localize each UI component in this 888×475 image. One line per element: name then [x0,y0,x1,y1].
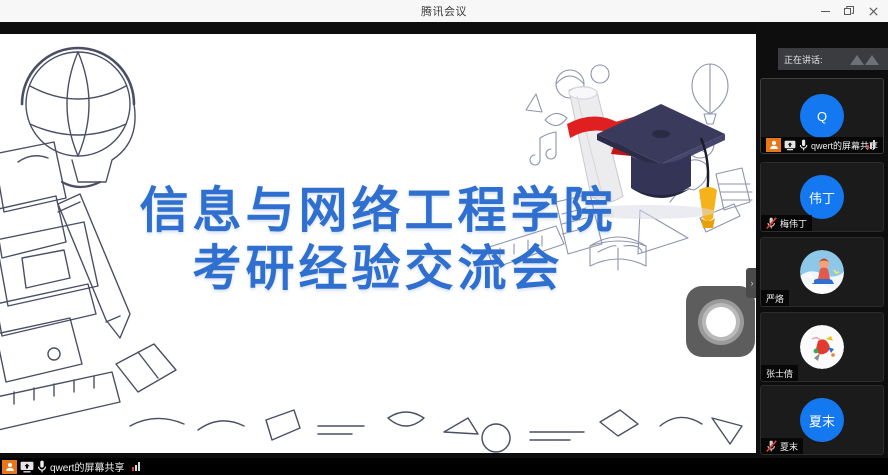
screen-share-icon [784,140,796,151]
chevron-right-icon: › [751,278,754,288]
collapse-rail-tab[interactable]: › [746,268,756,298]
maximize-button[interactable] [838,1,860,21]
participant-tile[interactable]: 夏末 夏末 [760,385,884,455]
ring-outer [698,299,744,345]
participant-nametag: 夏末 [761,438,803,454]
avatar-photo [800,325,844,369]
participant-tile[interactable]: 伟丁 梅伟丁 [760,162,884,232]
audio-wave-icon [848,53,882,66]
host-person-icon [2,460,17,474]
microphone-muted-icon [766,217,777,229]
avatar-photo [800,250,844,294]
close-button[interactable] [862,1,884,21]
participant-name: 梅伟丁 [780,217,807,230]
avatar: Q [800,94,844,138]
shared-screen-stage[interactable]: 信息与网络工程学院 考研经验交流会 › [0,34,756,453]
window-controls [814,0,884,22]
window-titlebar: 腾讯会议 [0,0,888,22]
microphone-icon [799,139,808,151]
slide-title-block: 信息与网络工程学院 考研经验交流会 [0,182,756,298]
avatar: 夏末 [800,398,844,442]
signal-bars-icon [132,462,140,471]
participant-tile[interactable]: 张士倩 [760,312,884,382]
participant-nametag: 梅伟丁 [761,215,812,231]
participant-nametag: qwert的屏幕共享 [761,137,883,153]
slide-title-line-1: 信息与网络工程学院 [0,182,756,240]
microphone-icon[interactable] [37,460,47,473]
signal-bars-icon [867,140,875,149]
maximize-icon [844,6,854,16]
participant-tile[interactable]: 严烙 [760,237,884,307]
avatar-initials: 夏末 [809,411,835,430]
minimize-button[interactable] [814,1,836,21]
participant-tile[interactable]: Q qwert的屏幕共享 [760,78,884,154]
microphone-muted-icon [766,440,777,452]
participant-name: 张士倩 [766,367,793,380]
ring-mid [702,303,740,341]
ring-inner [706,307,736,337]
screen-share-label: qwert的屏幕共享 [50,459,124,474]
avatar [800,250,844,294]
avatar [800,325,844,369]
slide-title-line-2: 考研经验交流会 [0,240,756,298]
participant-name: 严烙 [766,292,784,305]
speaking-now-label: 正在讲话: [784,53,823,66]
avatar: 伟丁 [800,175,844,219]
participant-rail: 正在讲话: Q [756,22,888,475]
minimize-icon [821,11,830,12]
participant-nametag: 张士倩 [761,365,798,381]
window-title: 腾讯会议 [421,3,467,19]
meeting-window-body: 信息与网络工程学院 考研经验交流会 › 正在讲话: [0,22,888,475]
screen-share-icon[interactable] [20,461,34,473]
speaking-now-banner: 正在讲话: [778,48,888,70]
participant-name: 夏末 [780,440,798,453]
participant-nametag: 严烙 [761,290,789,306]
avatar-initials: 伟丁 [809,188,835,207]
camera-ring-indicator[interactable] [686,286,755,357]
screen-share-status-bar: qwert的屏幕共享 [0,458,888,475]
close-icon [869,7,878,16]
avatar-initials: Q [817,109,827,124]
screen-share-status-group[interactable]: qwert的屏幕共享 [0,459,140,474]
host-person-icon [766,138,781,152]
